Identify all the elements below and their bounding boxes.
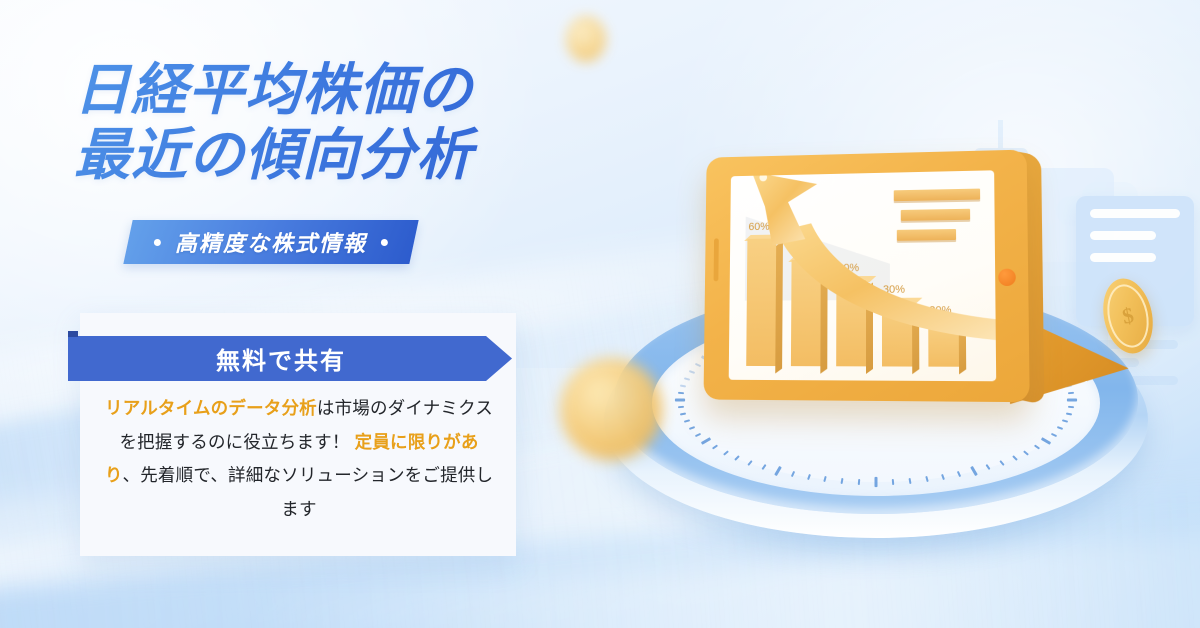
body-plain-2: 、先着順で、詳細なソリューションをご提供します (123, 465, 494, 519)
tick-mark (678, 392, 684, 395)
document-line (1090, 209, 1180, 218)
document-line (1090, 231, 1156, 240)
tablet-illustration: 60%50%40%30%20% (703, 149, 1044, 404)
dot-icon (154, 239, 161, 246)
subtitle-ribbon: 高精度な株式情報 (123, 220, 418, 264)
share-banner[interactable]: 無料で共有 (68, 336, 512, 381)
dot-icon (381, 239, 388, 246)
title-line-2: 最近の傾向分析 (74, 123, 594, 188)
banner-stage: 60%50%40%30%20% (0, 0, 1200, 628)
tick-mark (675, 399, 685, 402)
card-body-text: リアルタイムのデータ分析は市場のダイナミクスを把握するのに役立ちます！ 定員に限… (104, 392, 494, 526)
title-line-1: 日経平均株価の (74, 58, 594, 123)
tablet-speaker-slot (714, 238, 719, 281)
tick-mark (680, 384, 686, 387)
subtitle-text: 高精度な株式情報 (175, 226, 367, 258)
tick-mark (858, 479, 861, 485)
tablet-screen: 60%50%40%30%20% (729, 170, 997, 381)
tick-mark (1067, 399, 1077, 402)
growth-arrow-icon (729, 170, 997, 377)
tower-icon (998, 120, 1003, 150)
tablet-body: 60%50%40%30%20% (704, 150, 1030, 403)
tick-mark (1068, 392, 1074, 395)
page-title: 日経平均株価の 最近の傾向分析 (74, 58, 594, 188)
tablet-home-button (998, 269, 1016, 286)
body-highlight-1: リアルタイムのデータ分析 (105, 398, 317, 418)
tick-mark (875, 477, 878, 487)
coin-icon (560, 358, 662, 460)
document-line (1090, 253, 1156, 262)
share-banner-label: 無料で共有 (68, 336, 512, 381)
coin-icon (566, 16, 606, 62)
